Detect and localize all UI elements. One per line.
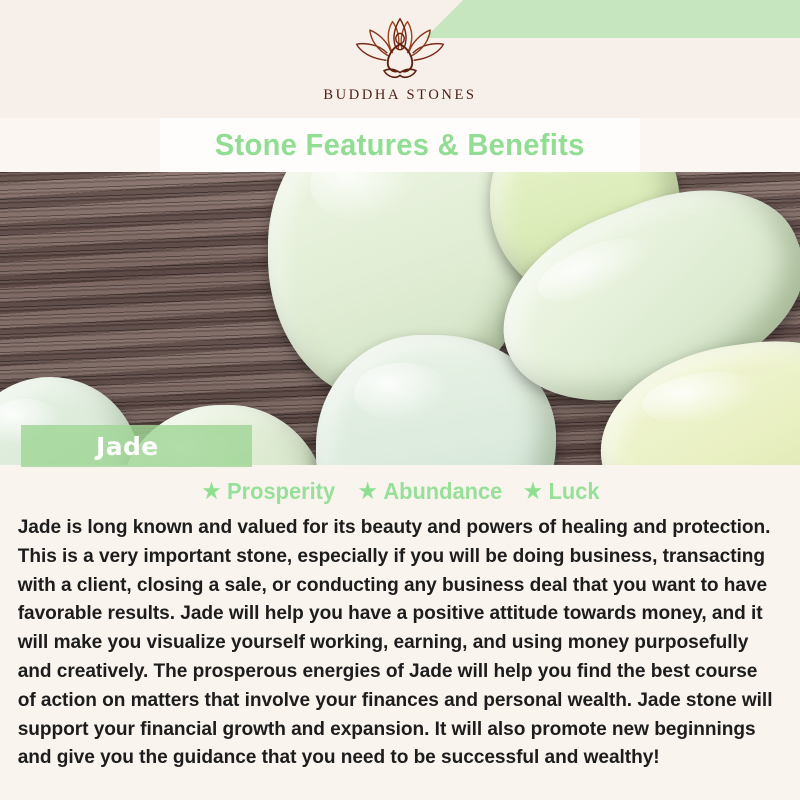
benefit-item-luck: ★ Luck bbox=[524, 478, 600, 505]
infographic-page: BUDDHA STONES Stone Features & Benefits … bbox=[0, 0, 800, 800]
stone-name-label: Jade bbox=[96, 432, 159, 461]
benefit-item-abundance: ★ Abundance bbox=[358, 478, 502, 505]
content-area: ★ Prosperity ★ Abundance ★ Luck Jade is … bbox=[0, 465, 800, 800]
title-band: Stone Features & Benefits bbox=[0, 118, 800, 172]
star-icon: ★ bbox=[524, 481, 542, 502]
benefit-label: Prosperity bbox=[227, 478, 335, 505]
star-icon: ★ bbox=[202, 481, 220, 502]
benefits-row: ★ Prosperity ★ Abundance ★ Luck bbox=[0, 465, 800, 505]
star-icon: ★ bbox=[358, 481, 376, 502]
benefit-label: Abundance bbox=[383, 478, 502, 505]
brand-name: BUDDHA STONES bbox=[323, 87, 476, 104]
benefit-label: Luck bbox=[548, 478, 599, 505]
lotus-meditation-icon bbox=[352, 15, 448, 81]
benefit-item-prosperity: ★ Prosperity bbox=[202, 478, 335, 505]
stone-name-banner: Jade bbox=[21, 425, 252, 467]
description-text: Jade is long known and valued for its be… bbox=[0, 505, 788, 772]
stone-photo bbox=[0, 172, 800, 465]
page-title: Stone Features & Benefits bbox=[215, 127, 585, 163]
brand-header: BUDDHA STONES bbox=[0, 0, 800, 118]
